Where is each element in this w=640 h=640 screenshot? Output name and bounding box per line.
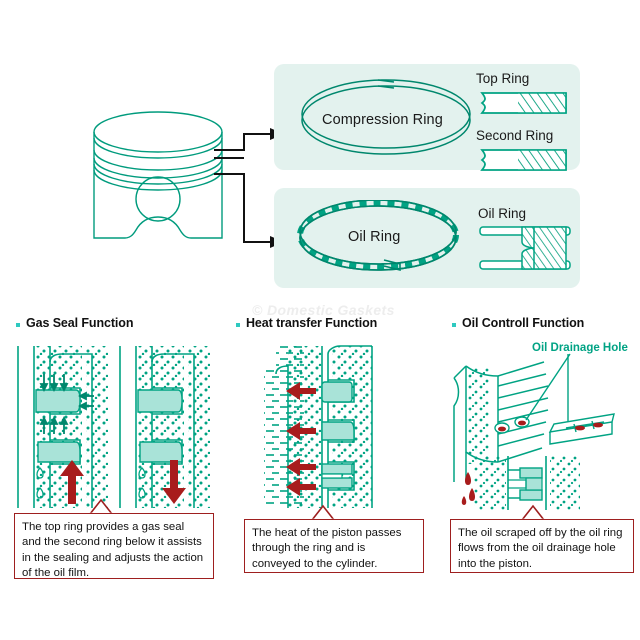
oil-ring-xsec-title: Oil Ring [478,206,526,221]
caption-gas-seal: The top ring provides a gas seal and the… [14,513,214,579]
oil-ring-label: Oil Ring [348,229,400,245]
compression-ring-label: Compression Ring [322,112,443,128]
top-ring-title: Top Ring [476,71,529,86]
section-title-gas-seal: Gas Seal Function [26,316,133,330]
bullet-heat-transfer [236,323,240,327]
oil-control-diagram [446,352,636,512]
section-title-heat-transfer: Heat transfer Function [246,316,377,330]
bullet-gas-seal [16,323,20,327]
top-ring-cross-section [476,92,568,114]
caption-oil-control: The oil scraped off by the oil ring flow… [450,519,634,573]
diagram-canvas: Compression Ring Top Ring Second Ring [0,0,640,640]
caption-heat-transfer: The heat of the piston passes through th… [244,519,424,573]
bullet-oil-control [452,323,456,327]
section-title-oil-control: Oil Controll Function [462,316,584,330]
gas-seal-diagram [14,344,210,510]
second-ring-title: Second Ring [476,128,553,143]
heat-transfer-diagram [238,344,418,510]
second-ring-cross-section [476,149,568,171]
oil-ring-cross-section [478,224,574,272]
